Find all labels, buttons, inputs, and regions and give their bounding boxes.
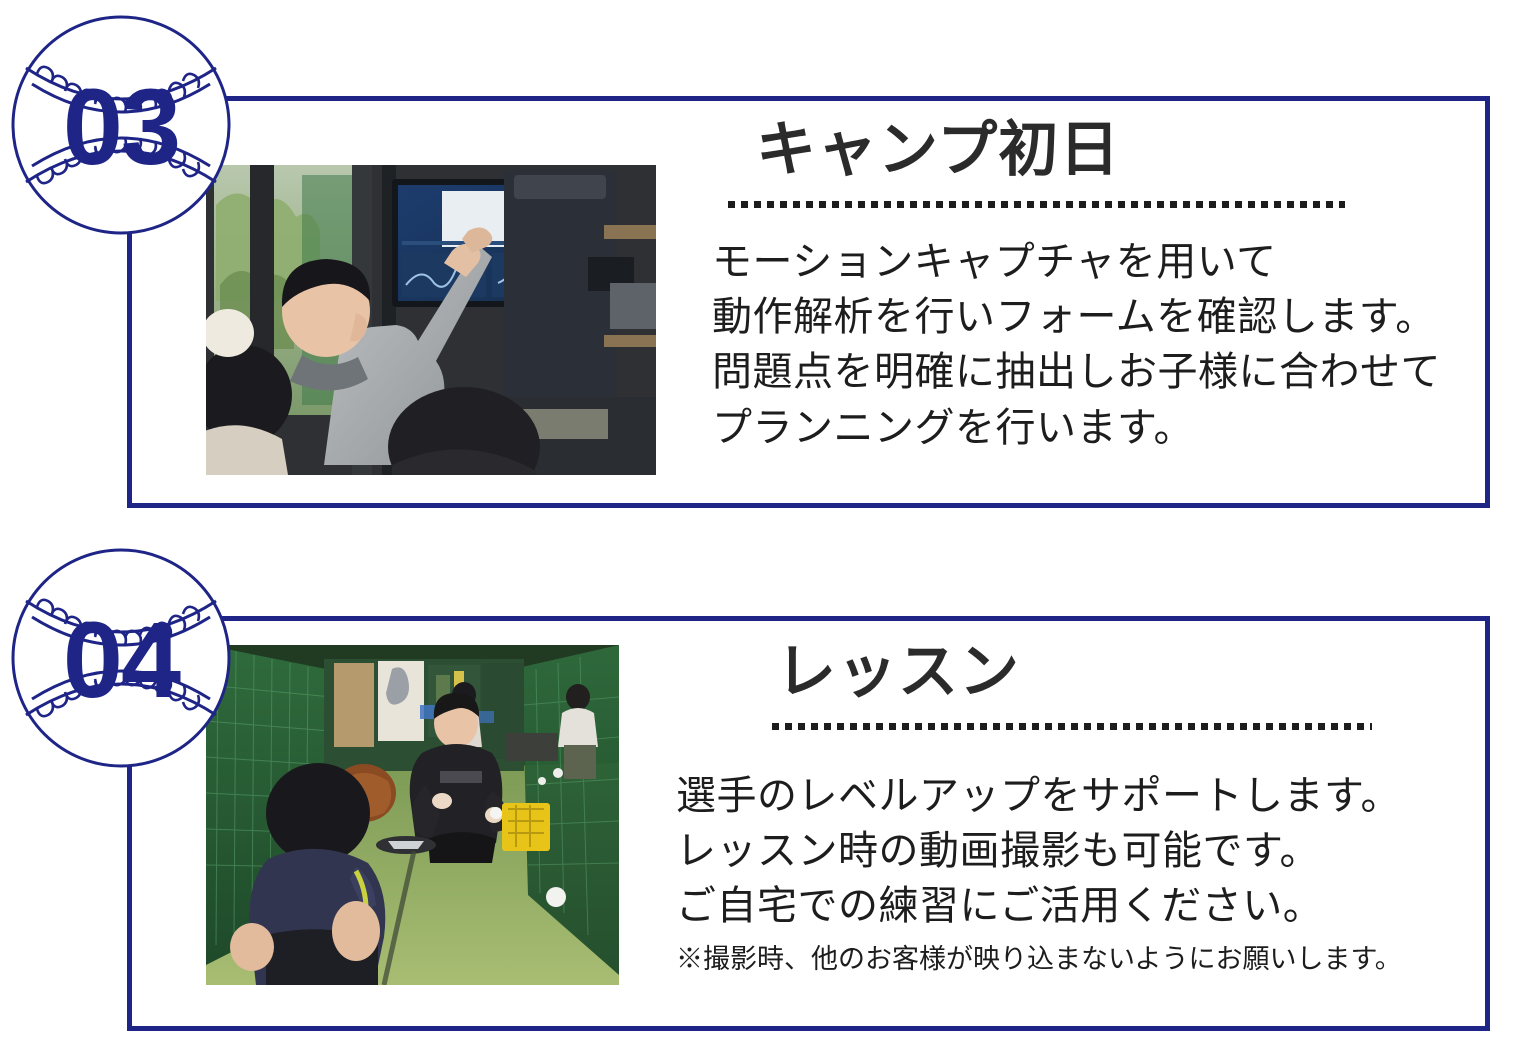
body-line: 動作解析を行いフォームを確認します。: [712, 289, 1482, 344]
card-body: 選手のレベルアップをサポートします。 レッスン時の動画撮影も可能です。 ご自宅で…: [676, 768, 1476, 934]
baseball-badge-04: 04: [8, 545, 234, 771]
page-root: キャンプ初日 モーションキャプチャを用いて 動作解析を行いフォームを確認します。…: [0, 0, 1516, 1046]
card-title: キャンプ初日: [712, 118, 1482, 181]
section-text-04: レッスン 選手のレベルアップをサポートします。 レッスン時の動画撮影も可能です。…: [676, 640, 1476, 977]
title-divider: [772, 723, 1372, 730]
baseball-badge-03: 03: [8, 12, 234, 238]
body-line: レッスン時の動画撮影も可能です。: [676, 823, 1476, 878]
body-line: ご自宅での練習にご活用ください。: [676, 878, 1476, 933]
card-footnote: ※撮影時、他のお客様が映り込まないようにお願いします。: [676, 942, 1476, 977]
body-line: モーションキャプチャを用いて: [712, 234, 1482, 289]
title-divider: [728, 201, 1345, 208]
body-line: 問題点を明確に抽出しお子様に合わせて: [712, 344, 1482, 399]
body-line: 選手のレベルアップをサポートします。: [676, 768, 1476, 823]
section-text-03: キャンプ初日 モーションキャプチャを用いて 動作解析を行いフォームを確認します。…: [712, 118, 1482, 455]
section-photo-motion-capture: [206, 165, 656, 475]
badge-number: 04: [63, 599, 181, 720]
badge-number: 03: [63, 66, 179, 187]
body-line: プランニングを行います。: [712, 400, 1482, 455]
section-photo-lesson: [206, 645, 619, 985]
card-title: レッスン: [676, 640, 1476, 703]
card-body: モーションキャプチャを用いて 動作解析を行いフォームを確認します。 問題点を明確…: [712, 234, 1482, 455]
